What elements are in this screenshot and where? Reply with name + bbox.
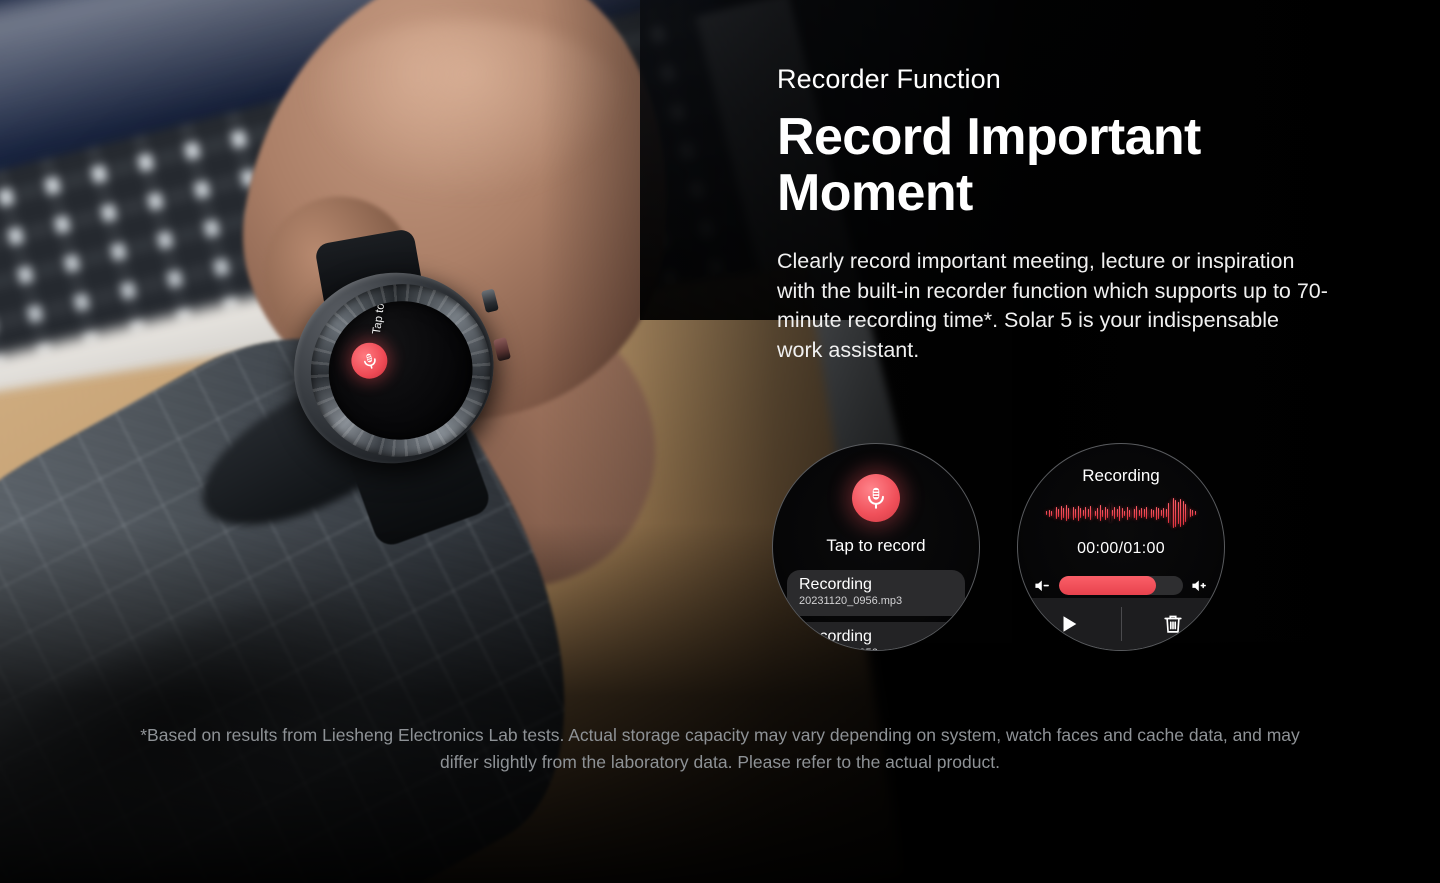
waveform-bar bbox=[1188, 507, 1189, 519]
waveform-bar bbox=[1066, 505, 1067, 521]
waveform-bar bbox=[1090, 506, 1091, 520]
page-title: Record Important Moment bbox=[777, 109, 1322, 221]
waveform-bar bbox=[1085, 507, 1086, 519]
waveform-bar bbox=[1185, 504, 1186, 522]
waveform-bar bbox=[1178, 502, 1179, 524]
waveform-bar bbox=[1180, 499, 1181, 527]
waveform-bar bbox=[1102, 510, 1103, 517]
waveform-bar bbox=[1088, 509, 1089, 517]
waveform-bar bbox=[1134, 509, 1135, 518]
waveform-bar bbox=[1093, 509, 1094, 518]
volume-fill bbox=[1059, 576, 1156, 595]
waveform-bar bbox=[1124, 511, 1125, 516]
waveform-bar bbox=[1119, 506, 1120, 521]
waveform-bar bbox=[1158, 508, 1159, 519]
waveform-bar bbox=[1051, 511, 1052, 516]
waveform-bar bbox=[1190, 509, 1191, 517]
scrim-bottom bbox=[0, 523, 1440, 883]
recordings-list: Recording 20231120_0956.mp3 Recording 20… bbox=[787, 570, 965, 651]
trash-icon[interactable] bbox=[1122, 598, 1225, 650]
waveform-bar bbox=[1161, 510, 1162, 516]
waveform-bar bbox=[1117, 509, 1118, 517]
waveform-bar bbox=[1132, 508, 1133, 519]
waveform-bar bbox=[1168, 503, 1169, 523]
recording-title: Recording bbox=[799, 576, 955, 594]
eyebrow-text: Recorder Function bbox=[777, 64, 1337, 95]
waveform-bar bbox=[1183, 501, 1184, 525]
waveform-bar bbox=[1061, 506, 1062, 520]
playback-controls bbox=[1018, 598, 1224, 650]
volume-up-icon[interactable] bbox=[1191, 578, 1208, 594]
waveform-bar bbox=[1071, 510, 1072, 517]
waveform-bar bbox=[1192, 510, 1193, 516]
tap-to-record-label: Tap to record bbox=[773, 536, 979, 556]
watch-ui-playback: Recording 00:00/01:00 bbox=[1017, 443, 1225, 651]
waveform-bar bbox=[1144, 509, 1145, 517]
waveform-bar bbox=[1173, 498, 1174, 528]
body-paragraph: Clearly record important meeting, lectur… bbox=[777, 247, 1329, 365]
waveform-bar bbox=[1163, 508, 1164, 518]
waveform-bar bbox=[1068, 508, 1069, 519]
copy-block: Recorder Function Record Important Momen… bbox=[777, 64, 1337, 365]
promo-banner: Tap to record Recorder Function Record I… bbox=[0, 0, 1440, 883]
playback-time: 00:00/01:00 bbox=[1018, 540, 1224, 558]
waveform-bar bbox=[1156, 507, 1157, 520]
waveform-bar bbox=[1083, 510, 1084, 516]
disclaimer-footnote: *Based on results from Liesheng Electron… bbox=[120, 722, 1320, 775]
waveform-bar bbox=[1146, 507, 1147, 519]
waveform-bar bbox=[1141, 508, 1142, 518]
waveform-bar bbox=[1110, 504, 1111, 522]
waveform-bar bbox=[1151, 509, 1152, 518]
waveform-bar bbox=[1175, 500, 1176, 527]
waveform-bar bbox=[1112, 510, 1113, 516]
waveform-bar bbox=[1129, 510, 1130, 517]
watch-case: Tap to record bbox=[274, 252, 514, 485]
waveform-bar bbox=[1122, 508, 1123, 518]
waveform-bar bbox=[1153, 510, 1154, 517]
waveform-bar bbox=[1046, 511, 1047, 515]
playback-title: Recording bbox=[1018, 466, 1224, 486]
waveform-bar bbox=[1095, 511, 1096, 516]
waveform-bar bbox=[1171, 500, 1172, 526]
waveform-bar bbox=[1075, 509, 1076, 518]
waveform-bar bbox=[1107, 509, 1108, 518]
waveform-bar bbox=[1078, 506, 1079, 521]
waveform-bar bbox=[1149, 511, 1150, 516]
audio-waveform bbox=[1046, 496, 1196, 530]
recording-title: Recording bbox=[799, 628, 955, 646]
volume-slider[interactable] bbox=[1034, 576, 1208, 595]
waveform-bar bbox=[1136, 506, 1137, 520]
waveform-bar bbox=[1073, 507, 1074, 520]
waveform-bar bbox=[1195, 511, 1196, 515]
waveform-bar bbox=[1063, 508, 1064, 518]
list-item[interactable]: Recording 20231120_0956.mp3 bbox=[787, 570, 965, 616]
waveform-bar bbox=[1058, 509, 1059, 517]
waveform-bar bbox=[1054, 509, 1055, 518]
list-item[interactable]: Recording 20231120_0956.mp3 bbox=[787, 622, 965, 651]
waveform-bar bbox=[1139, 510, 1140, 516]
volume-down-icon[interactable] bbox=[1034, 578, 1051, 594]
waveform-bar bbox=[1100, 505, 1101, 521]
waveform-bar bbox=[1114, 507, 1115, 519]
waveform-bar bbox=[1105, 507, 1106, 520]
waveform-bar bbox=[1049, 510, 1050, 517]
waveform-bar bbox=[1056, 507, 1057, 519]
microphone-icon[interactable] bbox=[852, 474, 900, 522]
recording-filename: 20231120_0956.mp3 bbox=[799, 595, 955, 608]
microphone-icon bbox=[348, 339, 392, 383]
waveform-bar bbox=[1080, 508, 1081, 518]
volume-track[interactable] bbox=[1059, 576, 1183, 595]
waveform-bar bbox=[1097, 508, 1098, 519]
waveform-bar bbox=[1166, 509, 1167, 517]
play-icon[interactable] bbox=[1018, 598, 1121, 650]
waveform-bar bbox=[1127, 507, 1128, 520]
watch-ui-record-list: Tap to record Recording 20231120_0956.mp… bbox=[772, 443, 980, 651]
